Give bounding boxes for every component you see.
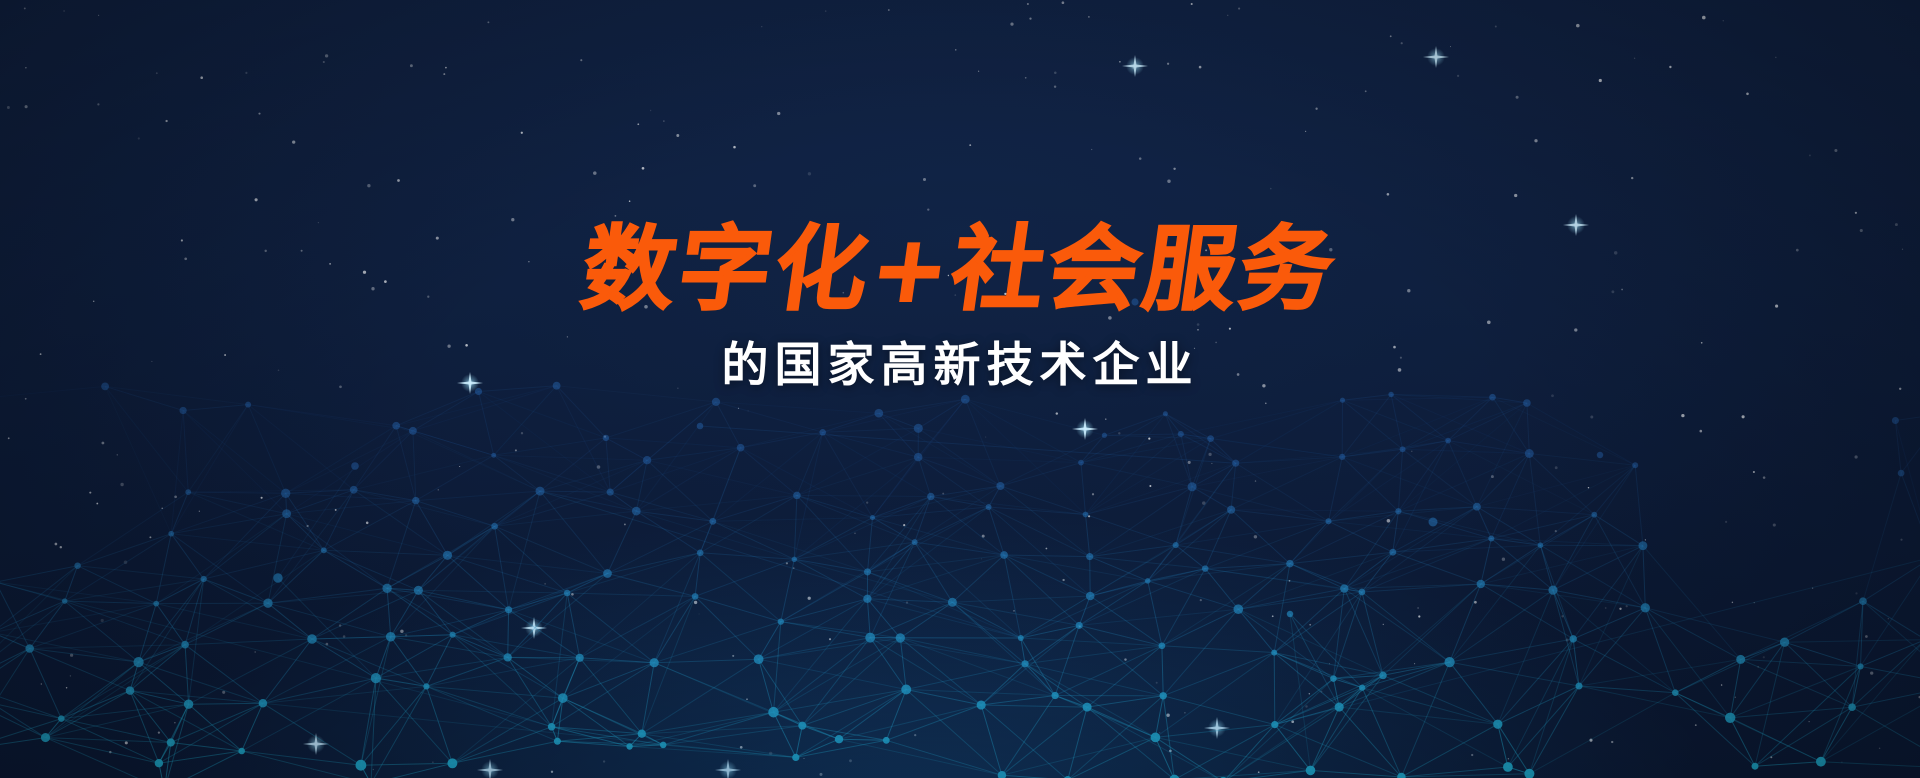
page-title: 数字化+社会服务 (0, 222, 1920, 318)
hero-text-block: 数字化+社会服务 的国家高新技术企业 (0, 222, 1920, 391)
hero-banner: 数字化+社会服务 的国家高新技术企业 (0, 0, 1920, 778)
page-subtitle: 的国家高新技术企业 (0, 340, 1920, 392)
